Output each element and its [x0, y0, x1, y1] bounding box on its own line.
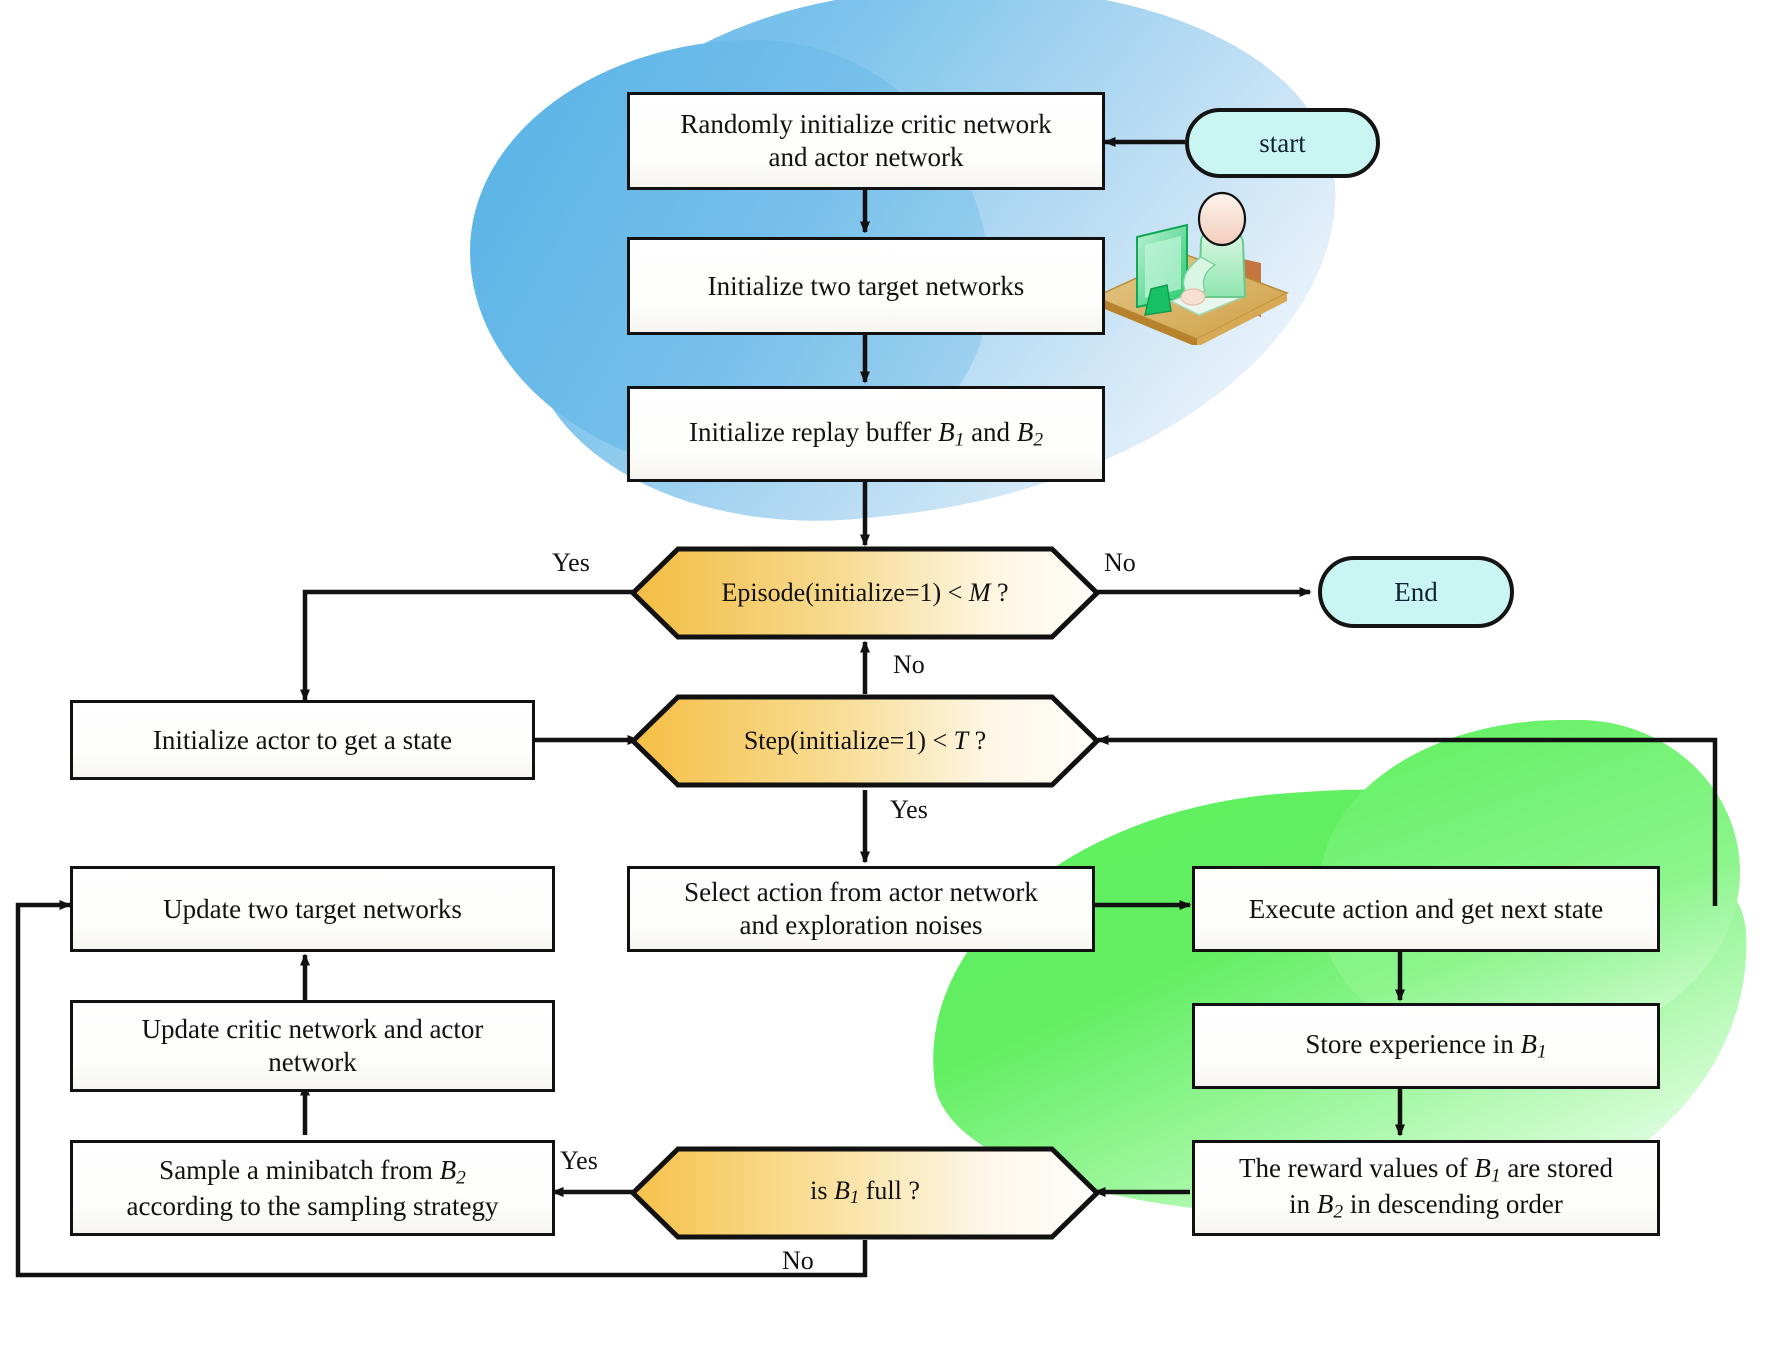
episode-post: ? — [991, 578, 1009, 607]
edge-label-isfull-no: No — [782, 1246, 814, 1276]
store-experience-label: Store experience in B1 — [1305, 1028, 1546, 1064]
update-targets-label: Update two target networks — [163, 893, 462, 926]
edge-label-episode-no: No — [1104, 548, 1136, 578]
process-store-rewards[interactable]: The reward values of B1 are stored in B2… — [1192, 1140, 1660, 1236]
reward-l2-var: B — [1317, 1189, 1334, 1219]
sample-l1-sub: 2 — [456, 1167, 466, 1188]
process-update-critic-actor[interactable]: Update critic network and actor network — [70, 1000, 555, 1092]
select-action-line2: and exploration noises — [740, 909, 983, 942]
edge-label-step-yes: Yes — [890, 795, 928, 825]
decision-episode[interactable]: Episode(initialize=1) < M ? — [630, 546, 1100, 640]
sample-l1-pre: Sample a minibatch from — [159, 1155, 439, 1185]
terminal-end[interactable]: End — [1318, 556, 1514, 628]
process-update-target-networks[interactable]: Update two target networks — [70, 866, 555, 952]
store-exp-sub: 1 — [1537, 1041, 1547, 1062]
reward-l2-sub: 2 — [1333, 1201, 1343, 1222]
sample-minibatch-line1: Sample a minibatch from B2 — [159, 1154, 466, 1190]
process-select-action[interactable]: Select action from actor network and exp… — [627, 866, 1095, 952]
process-init-target-networks[interactable]: Initialize two target networks — [627, 237, 1105, 335]
process-init-actor[interactable]: Initialize actor to get a state — [70, 700, 535, 780]
reward-l2-pre: in — [1289, 1189, 1317, 1219]
person-at-computer-icon — [1075, 185, 1295, 345]
decision-step-label: Step(initialize=1) < T ? — [630, 694, 1100, 788]
init-buffers-b1-sub: 1 — [955, 429, 965, 450]
store-exp-var: B — [1520, 1029, 1537, 1059]
init-buffers-b2: B — [1017, 417, 1034, 447]
process-store-experience[interactable]: Store experience in B1 — [1192, 1003, 1660, 1089]
update-critic-line2: network — [268, 1046, 356, 1079]
isfull-pre: is — [810, 1176, 834, 1205]
reward-l1-sub: 1 — [1491, 1165, 1501, 1186]
init-buffers-b1: B — [938, 417, 955, 447]
process-sample-minibatch[interactable]: Sample a minibatch from B2 according to … — [70, 1140, 555, 1236]
decision-is-b1-full-label: is B1 full ? — [630, 1146, 1100, 1240]
step-var: T — [954, 726, 968, 755]
sample-l1-var: B — [440, 1155, 457, 1185]
init-buffers-prefix: Initialize replay buffer — [689, 417, 938, 447]
reward-l1-pre: The reward values of — [1239, 1153, 1474, 1183]
edge-label-isfull-yes: Yes — [560, 1146, 598, 1176]
process-execute-action[interactable]: Execute action and get next state — [1192, 866, 1660, 952]
select-action-line1: Select action from actor network — [684, 876, 1038, 909]
store-exp-pre: Store experience in — [1305, 1029, 1520, 1059]
step-post: ? — [968, 726, 986, 755]
init-buffers-label: Initialize replay buffer B1 and B2 — [689, 416, 1043, 452]
sample-minibatch-line2: according to the sampling strategy — [127, 1190, 499, 1223]
process-init-networks[interactable]: Randomly initialize critic network and a… — [627, 92, 1105, 190]
edge-label-episode-yes: Yes — [552, 548, 590, 578]
init-actor-label: Initialize actor to get a state — [153, 724, 452, 757]
isfull-sub: 1 — [850, 1188, 859, 1209]
end-label: End — [1394, 577, 1438, 608]
reward-store-line1: The reward values of B1 are stored — [1239, 1152, 1613, 1188]
init-buffers-mid: and — [964, 417, 1016, 447]
decision-step[interactable]: Step(initialize=1) < T ? — [630, 694, 1100, 788]
init-networks-line1: Randomly initialize critic network — [680, 108, 1051, 141]
reward-store-line2: in B2 in descending order — [1289, 1188, 1563, 1224]
process-init-replay-buffers[interactable]: Initialize replay buffer B1 and B2 — [627, 386, 1105, 482]
episode-pre: Episode(initialize=1) < — [721, 578, 968, 607]
decision-episode-label: Episode(initialize=1) < M ? — [630, 546, 1100, 640]
edge-label-step-no: No — [893, 650, 925, 680]
decision-is-b1-full[interactable]: is B1 full ? — [630, 1146, 1100, 1240]
init-networks-line2: and actor network — [769, 141, 964, 174]
execute-action-label: Execute action and get next state — [1249, 893, 1604, 926]
init-targets-label: Initialize two target networks — [708, 270, 1025, 303]
episode-var: M — [969, 578, 991, 607]
flowchart-canvas: start End Randomly initialize critic net… — [0, 0, 1772, 1348]
isfull-post: full ? — [859, 1176, 920, 1205]
reward-l2-post: in descending order — [1343, 1189, 1563, 1219]
step-pre: Step(initialize=1) < — [744, 726, 954, 755]
update-critic-line1: Update critic network and actor — [142, 1013, 484, 1046]
reward-l1-post: are stored — [1501, 1153, 1613, 1183]
isfull-var: B — [834, 1176, 850, 1205]
reward-l1-var: B — [1474, 1153, 1491, 1183]
init-buffers-b2-sub: 2 — [1033, 429, 1043, 450]
terminal-start[interactable]: start — [1185, 108, 1380, 178]
start-label: start — [1259, 128, 1306, 159]
